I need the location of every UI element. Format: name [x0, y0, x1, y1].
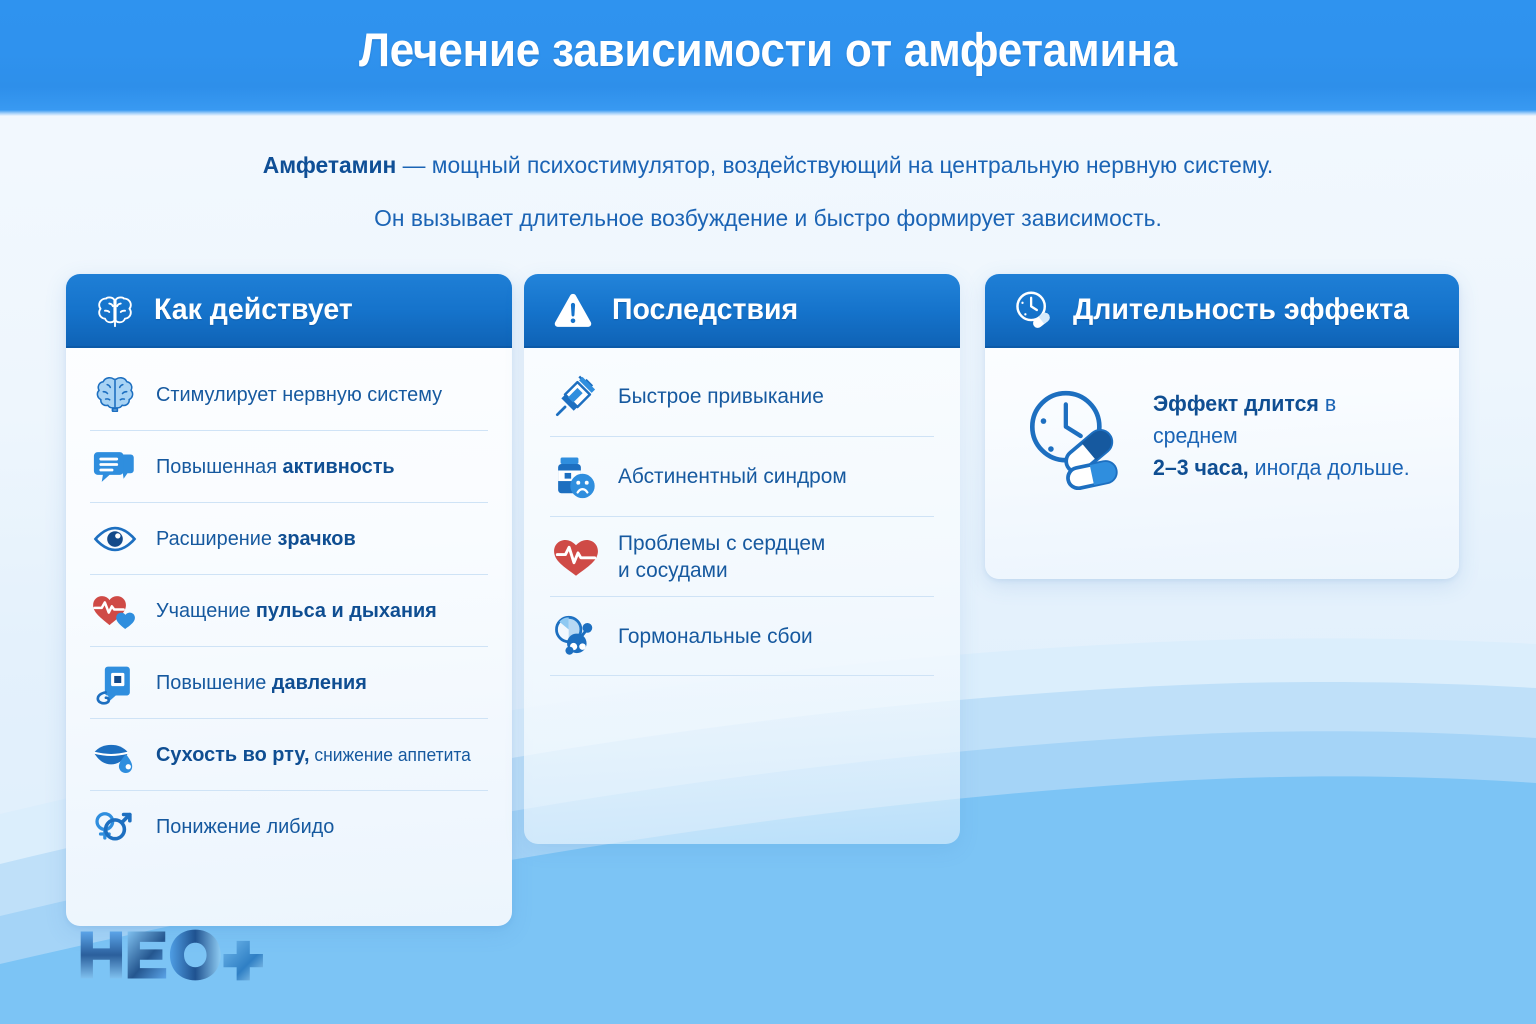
list-item-label: Стимулирует нервную систему: [156, 382, 442, 407]
list-item: Быстрое привыкание: [550, 356, 934, 436]
pill-bottle-sad-face-icon: [550, 451, 602, 503]
list-item-label: Повышенная активность: [156, 454, 395, 479]
intro-paragraph: Амфетамин — мощный психостимулятор, возд…: [0, 148, 1536, 237]
lips-droplet-icon: [90, 730, 140, 780]
gender-symbols-icon: [90, 802, 140, 852]
effect-duration-text: Эффект длится в среднем 2–3 часа, иногда…: [1153, 388, 1421, 484]
list-item-label: Повышение давления: [156, 670, 367, 695]
card-header-consequences: Последствия: [524, 274, 960, 348]
cards-container: Как действует Стимулирует нервну: [0, 274, 1536, 954]
clock-pills-icon: [1021, 382, 1133, 490]
warning-triangle-icon: [550, 287, 596, 333]
list-item: Сухость во рту, снижение аппетита: [90, 718, 488, 790]
card-how-it-works: Как действует Стимулирует нервну: [66, 274, 512, 926]
syringe-icon: [550, 370, 602, 422]
neo-plus-logo: [74, 924, 264, 986]
header-bar: Лечение зависимости от амфетамина: [0, 0, 1536, 116]
card-body-effect-duration: Эффект длится в среднем 2–3 часа, иногда…: [985, 348, 1459, 524]
eye-icon: [90, 514, 140, 564]
intro-line-2: Он вызывает длительное возбуждение и быс…: [23, 201, 1513, 236]
speech-bubbles-icon: [90, 442, 140, 492]
list-item: Абстинентный синдром: [550, 436, 934, 516]
list-item-label: Быстрое привыкание: [618, 383, 824, 409]
card-header-effect-duration: Длительность эффекта: [985, 274, 1459, 348]
card-title-consequences: Последствия: [612, 293, 798, 327]
list-item-label: Расширение зрачков: [156, 526, 356, 551]
card-title-how-it-works: Как действует: [154, 293, 353, 327]
card-effect-duration: Длительность эффекта: [985, 274, 1459, 579]
infographic-poster: Лечение зависимости от амфетамина Амфета…: [0, 0, 1536, 1024]
effect-regular-2: иногда дольше.: [1249, 455, 1410, 480]
card-title-effect-duration: Длительность эффекта: [1073, 293, 1409, 327]
list-item: Проблемы с сердцем и сосудами: [550, 516, 934, 596]
heart-pulse-icon: [550, 531, 602, 583]
card-body-consequences: Быстрое привыкание Аб: [524, 348, 960, 696]
list-item-label: Сухость во рту, снижение аппетита: [156, 742, 471, 767]
effect-bold-2: 2–3 часа,: [1153, 455, 1249, 480]
blood-pressure-monitor-icon: [90, 658, 140, 708]
list-item: Повышение давления: [90, 646, 488, 718]
list-item-line2: и сосудами: [618, 558, 728, 582]
clock-pills-icon: [1011, 287, 1057, 333]
list-item: Учащение пульса и дыхания: [90, 574, 488, 646]
list-item-label: Учащение пульса и дыхания: [156, 598, 437, 623]
page-title: Лечение зависимости от амфетамина: [46, 22, 1490, 77]
card-body-how-it-works: Стимулирует нервную систему: [66, 348, 512, 876]
list-item-label: Проблемы с сердцем и сосудами: [618, 530, 825, 582]
brain-icon: [90, 369, 140, 419]
card-consequences: Последствия Быстрое привы: [524, 274, 960, 844]
list-item-line1: Проблемы с сердцем: [618, 531, 825, 555]
list-item-label: Абстинентный синдром: [618, 463, 847, 489]
intro-line-1: Амфетамин — мощный психостимулятор, возд…: [23, 148, 1513, 183]
list-item: Понижение либидо: [90, 790, 488, 862]
list-item: Стимулирует нервную систему: [90, 358, 488, 430]
list-item: Гормональные сбои: [550, 596, 934, 676]
effect-bold-1: Эффект длится: [1153, 391, 1319, 416]
card-header-how-it-works: Как действует: [66, 274, 512, 348]
list-item-label: Гормональные сбои: [618, 623, 813, 649]
intro-line-1-rest: — мощный психостимулятор, воздействующий…: [396, 152, 1273, 178]
brain-icon: [92, 287, 138, 333]
heartbeat-hearts-icon: [90, 586, 140, 636]
list-item-label: Понижение либидо: [156, 814, 334, 839]
list-item: Повышенная активность: [90, 430, 488, 502]
intro-keyword: Амфетамин: [263, 152, 397, 178]
hormone-molecule-icon: [550, 610, 602, 662]
list-item: Расширение зрачков: [90, 502, 488, 574]
